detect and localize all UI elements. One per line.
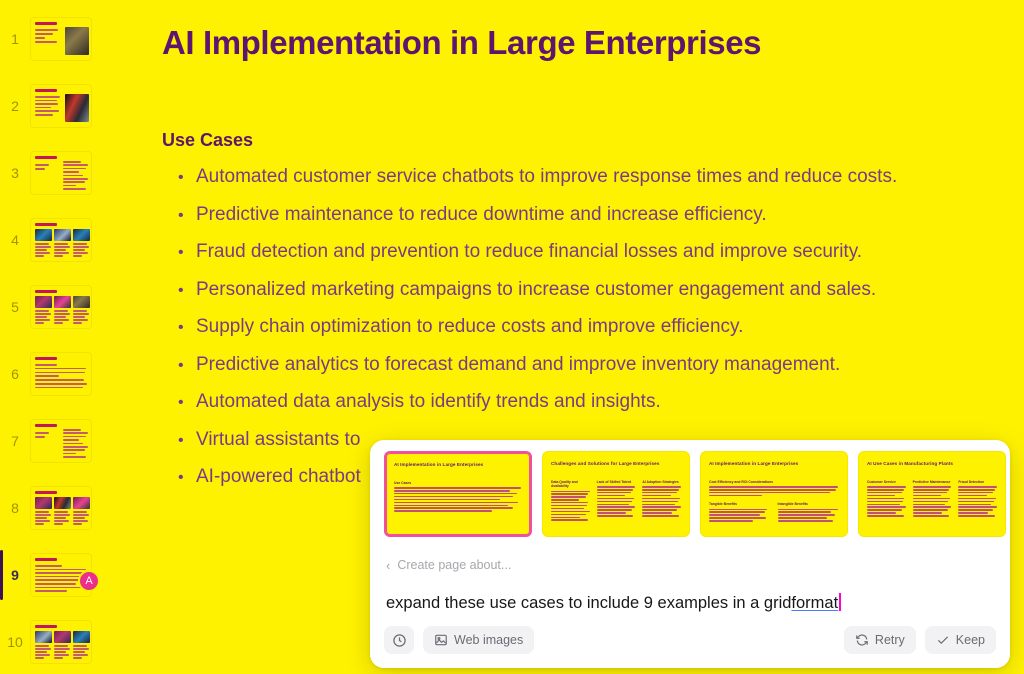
bullet-item: •Predictive maintenance to reduce downti… <box>178 204 1018 226</box>
prompt-misspelled-word: format <box>791 594 838 613</box>
variant-subhead: Fraud Detection <box>958 480 999 484</box>
slide-thumbnail-preview[interactable] <box>30 17 92 61</box>
slide-selected-indicator <box>0 550 3 600</box>
slide-thumbnail-8[interactable]: 8 <box>0 479 110 537</box>
variant-body: Cost Efficiency and ROI Considerations T… <box>709 480 841 523</box>
bullet-item: •Automated customer service chatbots to … <box>178 166 1018 188</box>
slide-number: 8 <box>4 500 26 516</box>
slide-thumbnail-7[interactable]: 7 <box>0 412 110 470</box>
slide-thumbnail-4[interactable]: 4 <box>0 211 110 269</box>
thumb-title-bar <box>35 22 57 25</box>
slide-thumbnail-preview[interactable] <box>30 620 92 664</box>
breadcrumb[interactable]: ‹ Create page about... <box>386 558 511 572</box>
bullet-dot-icon: • <box>178 320 196 336</box>
avatar[interactable]: A <box>78 570 100 592</box>
slide-thumbnail-2[interactable]: 2 <box>0 77 110 135</box>
bullet-item: •Fraud detection and prevention to reduc… <box>178 241 1018 263</box>
variant-body: Customer Service Predictive Maintenance … <box>867 480 999 518</box>
slide-thumbnail-preview[interactable] <box>30 151 92 195</box>
slide-thumbnail-9[interactable]: 9A <box>0 546 110 604</box>
popup-action-row: Web images Retry <box>384 626 996 654</box>
slide-thumbnail-preview[interactable] <box>30 218 92 262</box>
prompt-text: expand these use cases to include 9 exam… <box>386 594 791 613</box>
slide-number: 10 <box>4 634 26 650</box>
variant-card-1[interactable]: AI Implementation in Large Enterprises U… <box>384 451 532 537</box>
thumb-title-bar <box>35 491 57 494</box>
bullet-dot-icon: • <box>178 170 196 186</box>
popup-bottom-bar: ‹ Create page about... expand these use … <box>370 548 1010 668</box>
variant-subhead: Tangible Benefits <box>709 502 773 506</box>
variant-card-3[interactable]: AI Implementation in Large Enterprises C… <box>700 451 848 537</box>
clock-icon <box>392 633 407 648</box>
bullet-text: Automated customer service chatbots to i… <box>196 166 897 188</box>
slide-number: 7 <box>4 433 26 449</box>
bullet-dot-icon: • <box>178 245 196 261</box>
thumb-title-bar <box>35 558 57 561</box>
slide-number: 1 <box>4 31 26 47</box>
keep-button[interactable]: Keep <box>925 626 996 654</box>
slide-thumbnail-1[interactable]: 1 <box>0 10 110 68</box>
chevron-left-icon[interactable]: ‹ <box>386 559 390 572</box>
thumb-title-bar <box>35 424 57 427</box>
bullet-text: Personalized marketing campaigns to incr… <box>196 279 876 301</box>
bullet-dot-icon: • <box>178 470 196 486</box>
variant-card-2[interactable]: Challenges and Solutions for Large Enter… <box>542 451 690 537</box>
bullet-dot-icon: • <box>178 395 196 411</box>
thumb-title-bar <box>35 89 57 92</box>
bullet-dot-icon: • <box>178 358 196 374</box>
variant-title: AI Implementation in Large Enterprises <box>394 462 526 468</box>
variant-body: Data Quality and Availability Lack of Sk… <box>551 480 683 522</box>
variant-body: Use Cases <box>394 481 526 513</box>
variant-subhead: Lack of Skilled Talent <box>597 480 638 484</box>
text-caret <box>839 593 841 611</box>
refresh-icon <box>855 633 869 647</box>
bullet-text: Supply chain optimization to reduce cost… <box>196 316 743 338</box>
bullet-text: AI-powered chatbot <box>196 466 361 488</box>
prompt-input[interactable]: expand these use cases to include 9 exam… <box>386 590 994 613</box>
bullet-text: Automated data analysis to identify tren… <box>196 391 661 413</box>
ai-generation-popup[interactable]: AI Implementation in Large Enterprises U… <box>370 440 1010 668</box>
variant-subhead: Intangible Benefits <box>778 502 842 506</box>
slide-thumbnail-sidebar[interactable]: 123456789A10 <box>0 0 110 674</box>
variant-title: AI Use Cases in Manufacturing Plants <box>867 461 999 467</box>
variant-title: Challenges and Solutions for Large Enter… <box>551 461 683 467</box>
slide-thumbnail-5[interactable]: 5 <box>0 278 110 336</box>
slide-number: 9 <box>4 567 26 583</box>
bullet-text: Virtual assistants to <box>196 429 360 451</box>
bullet-text: Fraud detection and prevention to reduce… <box>196 241 862 263</box>
web-images-label: Web images <box>454 633 523 647</box>
bullet-item: •Personalized marketing campaigns to inc… <box>178 279 1018 301</box>
history-button[interactable] <box>384 626 414 654</box>
thumb-title-bar <box>35 223 57 226</box>
bullet-text: Predictive analytics to forecast demand … <box>196 354 840 376</box>
thumb-title-bar <box>35 156 57 159</box>
check-icon <box>936 633 950 647</box>
slide-thumbnail-preview[interactable] <box>30 352 92 396</box>
breadcrumb-label: Create page about... <box>397 558 511 572</box>
retry-button[interactable]: Retry <box>844 626 916 654</box>
page-title: AI Implementation in Large Enterprises <box>162 24 761 62</box>
retry-label: Retry <box>875 633 905 647</box>
thumb-title-bar <box>35 290 57 293</box>
variant-title: AI Implementation in Large Enterprises <box>709 461 841 467</box>
variant-thumbnail-strip[interactable]: AI Implementation in Large Enterprises U… <box>384 451 1006 537</box>
slide-thumbnail-preview[interactable] <box>30 84 92 128</box>
bullet-dot-icon: • <box>178 208 196 224</box>
variant-subhead: Data Quality and Availability <box>551 480 592 489</box>
keep-label: Keep <box>956 633 985 647</box>
bullet-dot-icon: • <box>178 283 196 299</box>
slide-number: 2 <box>4 98 26 114</box>
slide-number: 3 <box>4 165 26 181</box>
bullet-text: Predictive maintenance to reduce downtim… <box>196 204 767 226</box>
web-images-button[interactable]: Web images <box>423 626 534 654</box>
image-icon <box>434 633 448 647</box>
slide-number: 6 <box>4 366 26 382</box>
thumb-title-bar <box>35 625 57 628</box>
variant-subhead: Use Cases <box>394 481 526 485</box>
section-heading: Use Cases <box>162 130 253 151</box>
slide-thumbnail-preview[interactable] <box>30 486 92 530</box>
slide-number: 5 <box>4 299 26 315</box>
slide-thumbnail-preview[interactable] <box>30 285 92 329</box>
slide-number: 4 <box>4 232 26 248</box>
bullet-item: •Automated data analysis to identify tre… <box>178 391 1018 413</box>
thumb-title-bar <box>35 357 57 360</box>
variant-subhead: Cost Efficiency and ROI Considerations <box>709 480 841 484</box>
bullet-item: •Supply chain optimization to reduce cos… <box>178 316 1018 338</box>
variant-subhead: Predictive Maintenance <box>913 480 954 484</box>
slide-thumbnail-6[interactable]: 6 <box>0 345 110 403</box>
presentation-editor: 123456789A10 AI Implementation in Large … <box>0 0 1024 674</box>
variant-card-4[interactable]: AI Use Cases in Manufacturing Plants Cus… <box>858 451 1006 537</box>
slide-thumbnail-10[interactable]: 10 <box>0 613 110 671</box>
bullet-item: •Predictive analytics to forecast demand… <box>178 354 1018 376</box>
bullet-dot-icon: • <box>178 433 196 449</box>
variant-subhead: AI Adoption Strategies <box>642 480 683 484</box>
variant-subhead: Customer Service <box>867 480 908 484</box>
slide-thumbnail-preview[interactable] <box>30 419 92 463</box>
slide-thumbnail-3[interactable]: 3 <box>0 144 110 202</box>
